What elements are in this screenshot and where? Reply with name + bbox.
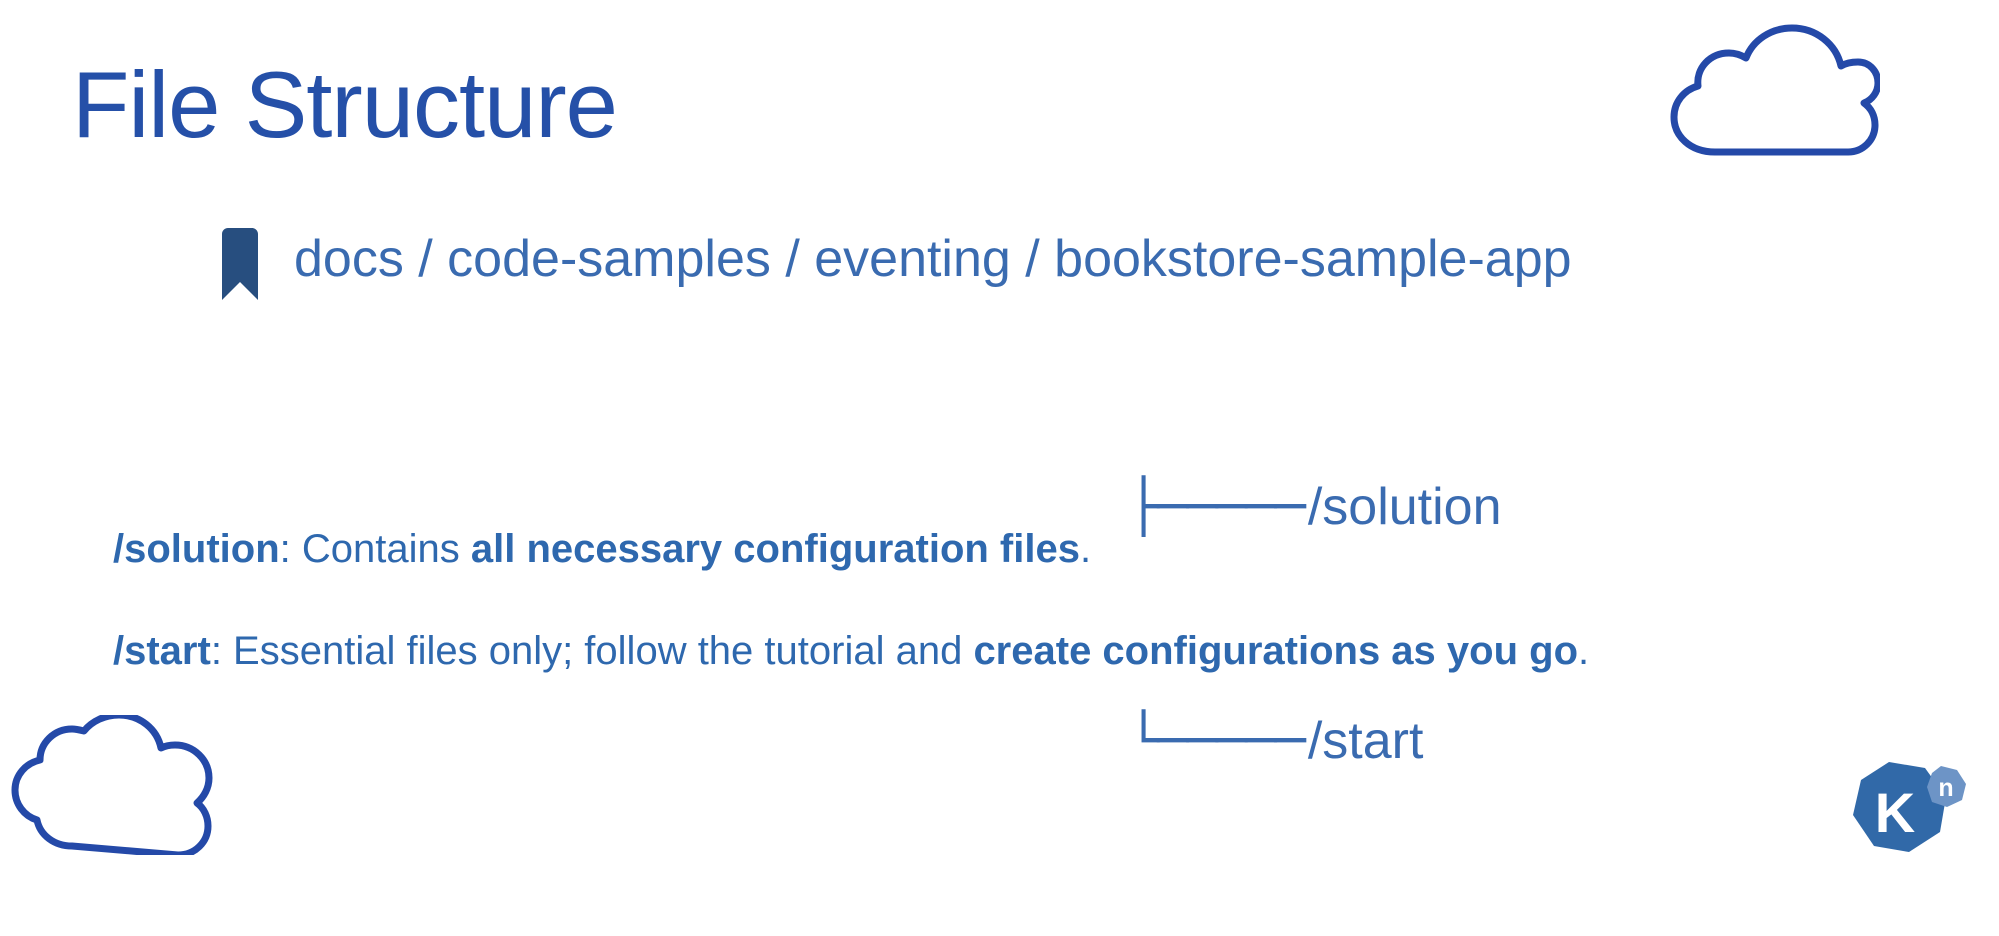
file-tree: ├───── /solution └───── /start bbox=[1128, 312, 1502, 936]
svg-text:K: K bbox=[1875, 781, 1915, 844]
body-text-start-end: . bbox=[1578, 629, 1589, 673]
tree-row-solution: ├───── /solution bbox=[1128, 468, 1502, 546]
body-emphasis-start: create configurations as you go bbox=[973, 629, 1578, 673]
tree-branch-connector: └───── bbox=[1128, 702, 1304, 780]
tree-row-start: └───── /start bbox=[1128, 702, 1502, 780]
tree-item-label-start: /start bbox=[1308, 702, 1424, 780]
body-text-solution-end: . bbox=[1080, 527, 1091, 571]
body-paragraph-start: /start: Essential files only; follow the… bbox=[113, 627, 1589, 675]
body-term-start: /start bbox=[113, 629, 211, 673]
bookmark-icon bbox=[216, 228, 264, 300]
body-paragraph-solution: /solution: Contains all necessary config… bbox=[113, 525, 1091, 573]
slide-canvas: File Structure docs / code-samples / eve… bbox=[0, 0, 1999, 877]
svg-text:n: n bbox=[1938, 774, 1953, 802]
tree-branch-connector: ├───── bbox=[1128, 468, 1304, 546]
body-term-solution: /solution bbox=[113, 527, 280, 571]
page-title: File Structure bbox=[72, 58, 617, 152]
knative-logo: K n bbox=[1845, 760, 1967, 860]
body-text-solution-mid: : Contains bbox=[280, 527, 471, 571]
tree-item-label-solution: /solution bbox=[1308, 468, 1502, 546]
cloud-icon-bottom-left bbox=[10, 715, 225, 855]
body-text-start-mid: : Essential files only; follow the tutor… bbox=[211, 629, 974, 673]
breadcrumb-path: docs / code-samples / eventing / booksto… bbox=[294, 228, 1572, 290]
body-emphasis-solution: all necessary configuration files bbox=[471, 527, 1080, 571]
cloud-icon-top-right bbox=[1660, 24, 1880, 164]
breadcrumb: docs / code-samples / eventing / booksto… bbox=[216, 228, 1572, 300]
